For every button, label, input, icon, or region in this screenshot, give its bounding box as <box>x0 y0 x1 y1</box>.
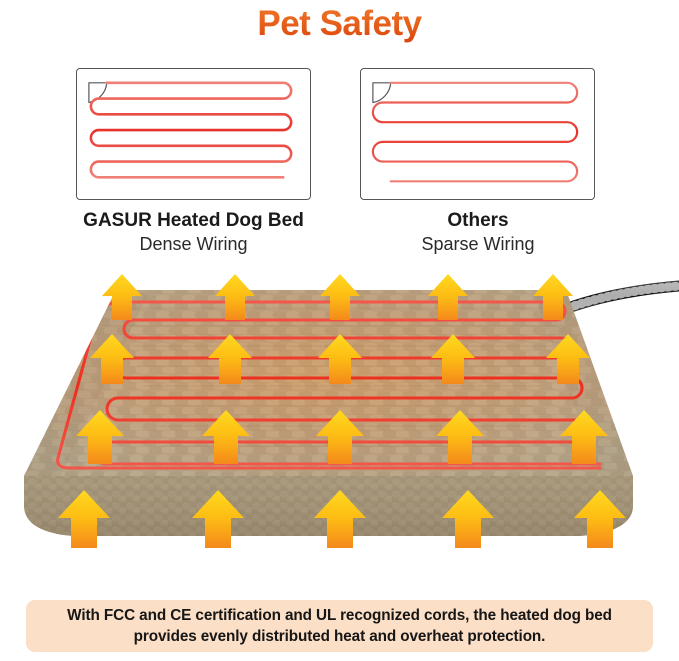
dense-wiring-label: Dense Wiring <box>40 233 347 256</box>
page-curl-icon <box>373 83 391 103</box>
power-cord <box>560 286 679 315</box>
dense-wiring-diagram <box>76 68 311 200</box>
sparse-wiring-label: Sparse Wiring <box>368 233 588 256</box>
certification-note-text: With FCC and CE certification and UL rec… <box>40 605 639 647</box>
certification-note: With FCC and CE certification and UL rec… <box>26 600 653 652</box>
dense-wire-path <box>91 83 291 178</box>
page-title: Pet Safety <box>0 2 679 46</box>
dense-wiring-caption: GASUR Heated Dog Bed Dense Wiring <box>40 209 347 256</box>
others-product-label: Others <box>368 209 588 233</box>
sparse-wire-path <box>373 83 577 181</box>
heated-mat-illustration <box>0 262 679 592</box>
sparse-wiring-caption: Others Sparse Wiring <box>368 209 588 256</box>
mat-body <box>24 290 633 536</box>
dense-product-label: GASUR Heated Dog Bed <box>40 209 347 233</box>
sparse-wiring-diagram <box>360 68 595 200</box>
